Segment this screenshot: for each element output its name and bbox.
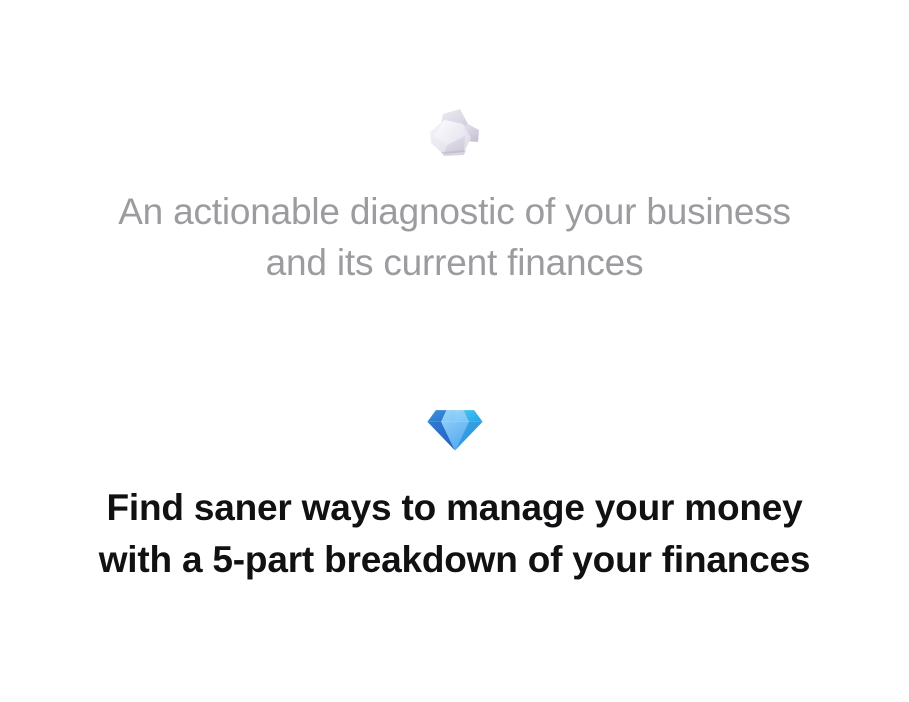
gem-stone-icon bbox=[421, 392, 489, 460]
rock-icon bbox=[423, 100, 487, 164]
diagnostic-headline-line-1: An actionable diagnostic of your busines… bbox=[0, 186, 909, 237]
gem-stone-icon-wrapper bbox=[0, 392, 909, 460]
diagnostic-section: An actionable diagnostic of your busines… bbox=[0, 100, 909, 288]
rock-icon-wrapper bbox=[0, 100, 909, 164]
diagnostic-headline: An actionable diagnostic of your busines… bbox=[0, 186, 909, 288]
breakdown-section: Find saner ways to manage your money wit… bbox=[0, 392, 909, 586]
slide-canvas: An actionable diagnostic of your busines… bbox=[0, 0, 909, 702]
breakdown-headline-line-1: Find saner ways to manage your money bbox=[0, 482, 909, 534]
breakdown-headline-line-2: with a 5-part breakdown of your finances bbox=[0, 534, 909, 586]
diagnostic-headline-line-2: and its current finances bbox=[0, 237, 909, 288]
breakdown-headline: Find saner ways to manage your money wit… bbox=[0, 482, 909, 586]
